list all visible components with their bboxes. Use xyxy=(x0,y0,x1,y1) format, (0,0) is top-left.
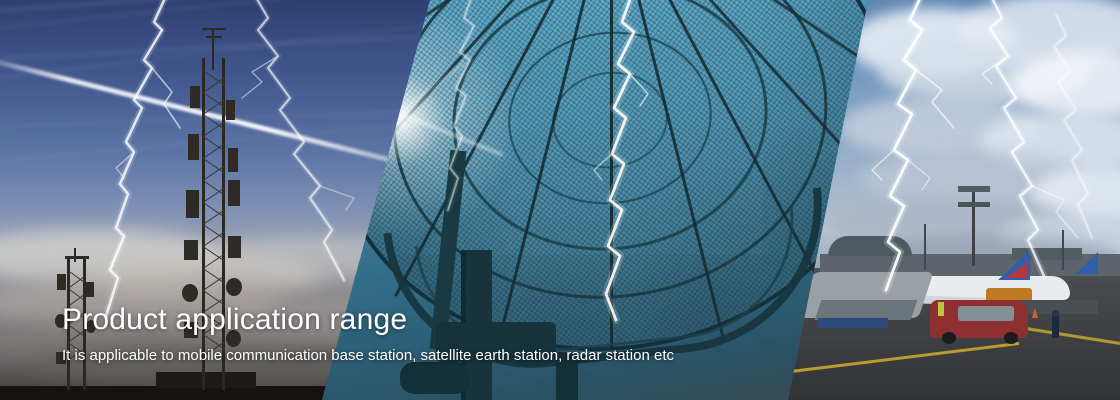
product-application-banner: Product application range It is applicab… xyxy=(0,0,1120,400)
ground-cart xyxy=(818,318,888,328)
light-mast xyxy=(972,188,975,266)
van-windows xyxy=(958,306,1014,321)
page-title: Product application range xyxy=(62,304,674,336)
van-wheel xyxy=(942,332,956,344)
banner-caption: Product application range It is applicab… xyxy=(62,304,674,365)
hi-vis-worker xyxy=(938,302,944,316)
page-subtitle: It is applicable to mobile communication… xyxy=(62,346,674,366)
light-mast-head xyxy=(958,186,990,192)
worker-head xyxy=(1052,310,1059,317)
dish-counterweight xyxy=(400,362,470,394)
light-mast-head xyxy=(958,202,990,207)
light-mast xyxy=(1062,230,1064,270)
light-mast xyxy=(924,224,926,270)
terminal-roof xyxy=(828,236,912,256)
van-wheel xyxy=(1004,332,1018,344)
ground-crew-worker xyxy=(1052,316,1059,338)
boarding-stairs xyxy=(815,300,917,320)
